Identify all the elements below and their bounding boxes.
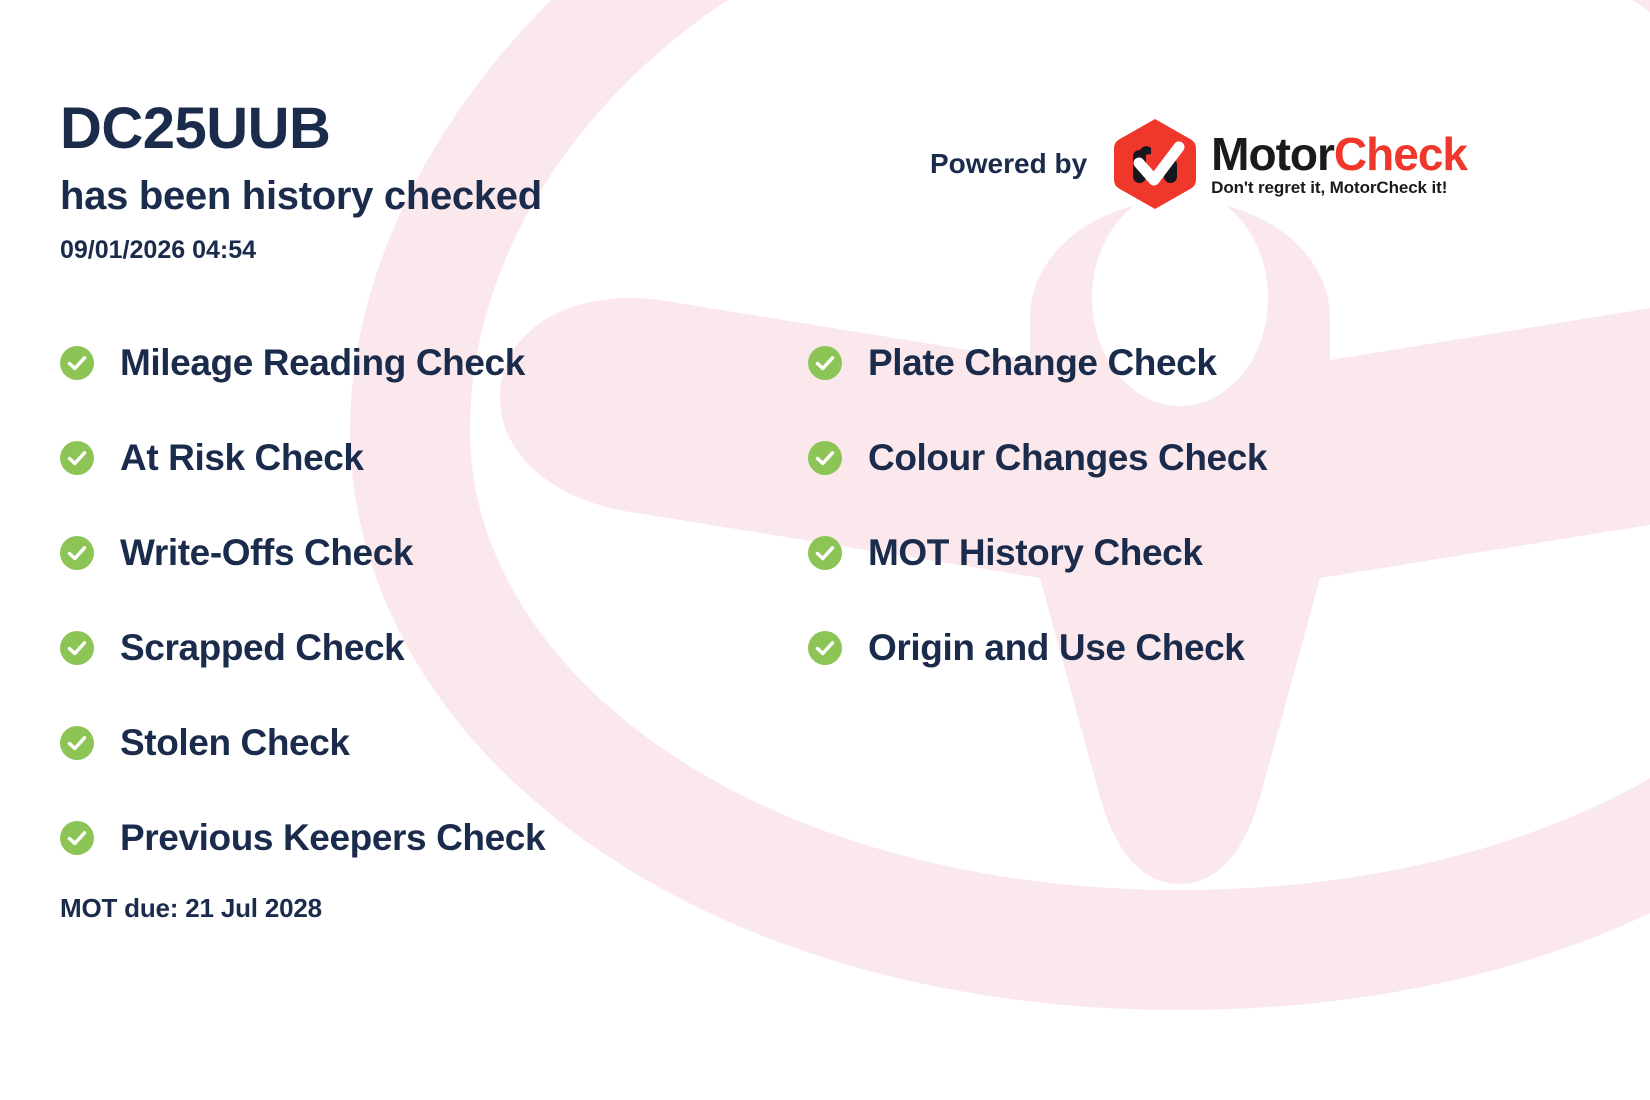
check-label: Stolen Check bbox=[120, 722, 350, 764]
mot-due-text: MOT due: 21 Jul 2028 bbox=[60, 893, 322, 924]
check-item: Origin and Use Check bbox=[808, 600, 1508, 695]
history-check-card: DC25UUB has been history checked 09/01/2… bbox=[0, 0, 1650, 1100]
check-circle-icon bbox=[60, 726, 94, 760]
check-label: Colour Changes Check bbox=[868, 437, 1267, 479]
check-circle-icon bbox=[808, 441, 842, 475]
check-timestamp: 09/01/2026 04:54 bbox=[60, 235, 256, 265]
check-label: Origin and Use Check bbox=[868, 627, 1245, 669]
check-circle-icon bbox=[808, 631, 842, 665]
wordmark-check: Check bbox=[1334, 128, 1467, 180]
check-item: Mileage Reading Check bbox=[60, 315, 760, 410]
checks-right-column: Plate Change Check Colour Changes Check … bbox=[808, 315, 1508, 695]
check-circle-icon bbox=[808, 346, 842, 380]
check-label: Write-Offs Check bbox=[120, 532, 413, 574]
motorcheck-logo[interactable]: MotorCheck Don't regret it, MotorCheck i… bbox=[1113, 118, 1467, 210]
page-subtitle: has been history checked bbox=[60, 176, 542, 216]
check-item: At Risk Check bbox=[60, 410, 760, 505]
check-item: MOT History Check bbox=[808, 505, 1508, 600]
check-item: Previous Keepers Check bbox=[60, 790, 760, 885]
check-label: At Risk Check bbox=[120, 437, 364, 479]
check-item: Scrapped Check bbox=[60, 600, 760, 695]
vehicle-registration-plate: DC25UUB bbox=[60, 100, 330, 158]
check-circle-icon bbox=[808, 536, 842, 570]
check-item: Stolen Check bbox=[60, 695, 760, 790]
brand-tagline: Don't regret it, MotorCheck it! bbox=[1211, 178, 1467, 198]
check-circle-icon bbox=[60, 631, 94, 665]
check-label: Scrapped Check bbox=[120, 627, 404, 669]
check-circle-icon bbox=[60, 821, 94, 855]
check-item: Write-Offs Check bbox=[60, 505, 760, 600]
check-label: Plate Change Check bbox=[868, 342, 1217, 384]
powered-by-label: Powered by bbox=[930, 148, 1087, 180]
motorcheck-wordmark: MotorCheck Don't regret it, MotorCheck i… bbox=[1211, 131, 1467, 198]
wordmark-motor: Motor bbox=[1211, 128, 1334, 180]
powered-by-block: Powered by MotorCheck Don't regret it, M… bbox=[930, 118, 1467, 210]
check-label: Previous Keepers Check bbox=[120, 817, 545, 859]
motorcheck-hexagon-logo-icon bbox=[1113, 118, 1197, 210]
check-item: Colour Changes Check bbox=[808, 410, 1508, 505]
check-circle-icon bbox=[60, 536, 94, 570]
check-label: MOT History Check bbox=[868, 532, 1203, 574]
checks-left-column: Mileage Reading Check At Risk Check Writ… bbox=[60, 315, 760, 885]
check-label: Mileage Reading Check bbox=[120, 342, 525, 384]
check-item: Plate Change Check bbox=[808, 315, 1508, 410]
check-circle-icon bbox=[60, 346, 94, 380]
check-circle-icon bbox=[60, 441, 94, 475]
